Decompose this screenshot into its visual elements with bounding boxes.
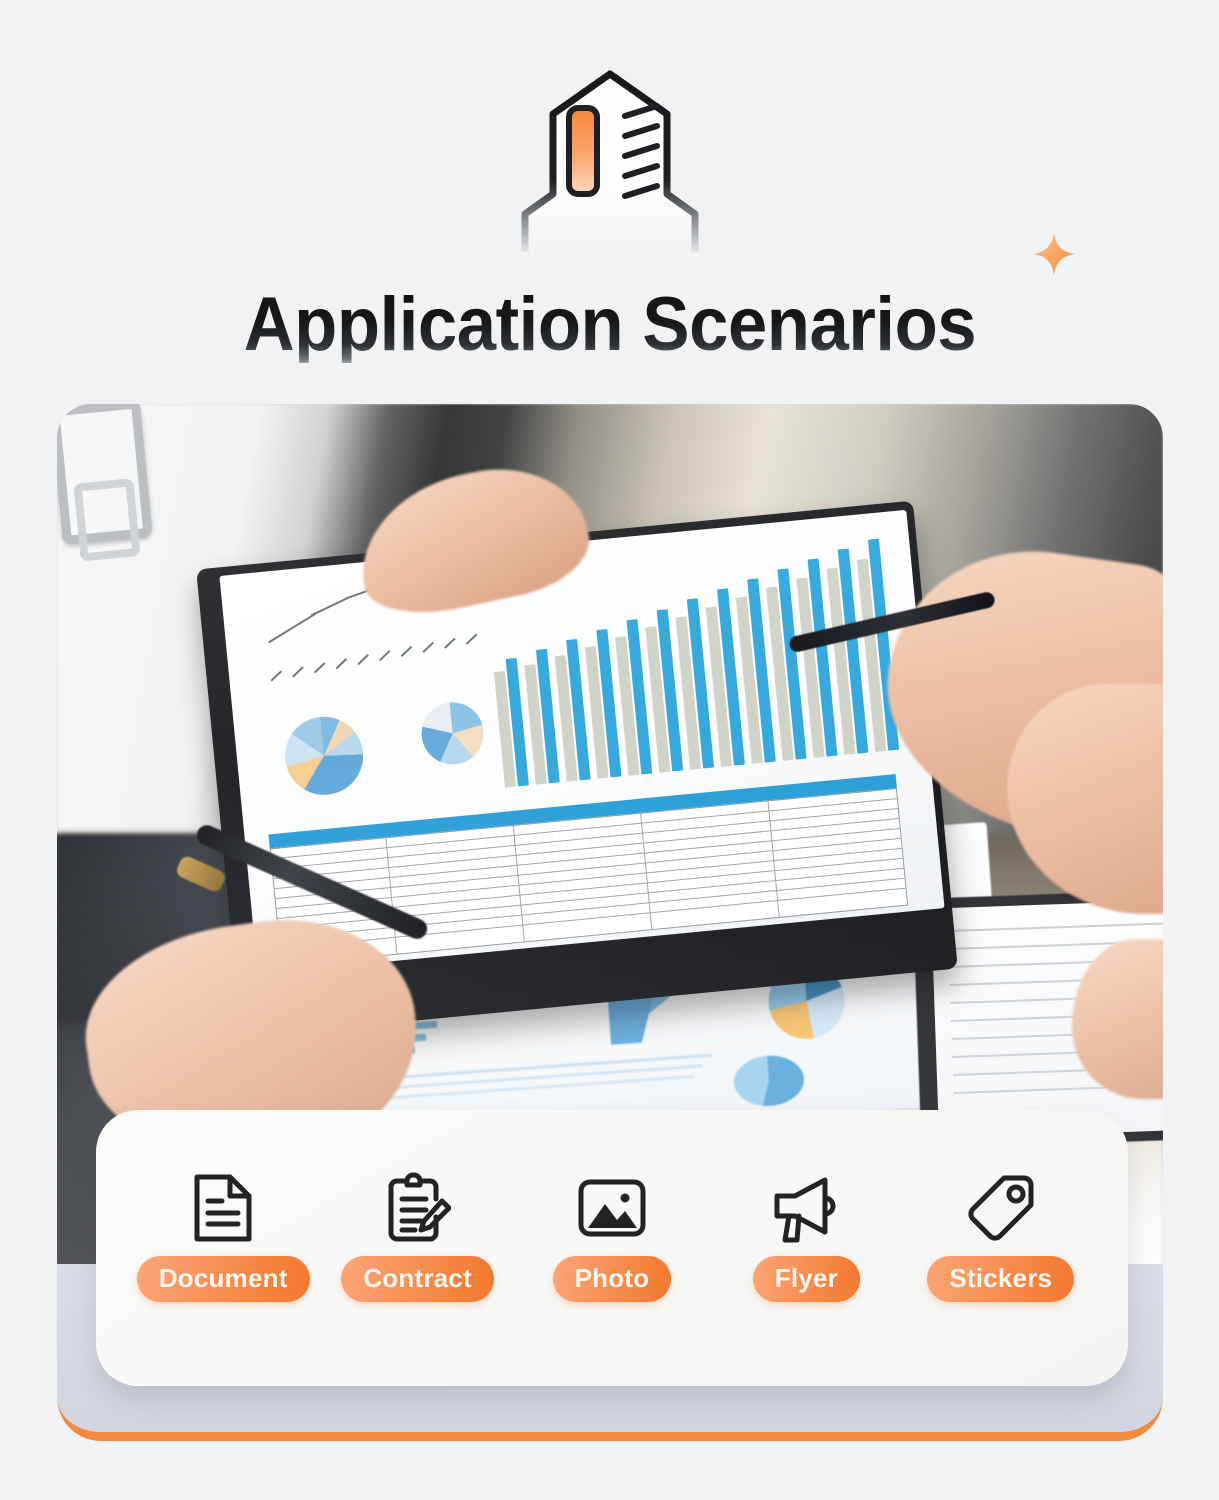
header-section: Application Scenarios bbox=[0, 0, 1219, 404]
feature-contract[interactable]: Contract bbox=[328, 1170, 508, 1302]
feature-stickers[interactable]: Stickers bbox=[911, 1170, 1091, 1302]
sparkle-star-icon bbox=[1031, 231, 1077, 277]
price-tag-icon bbox=[966, 1170, 1036, 1246]
feature-photo[interactable]: Photo bbox=[522, 1170, 702, 1302]
image-picture-icon bbox=[576, 1170, 648, 1246]
building-tower-icon bbox=[495, 62, 725, 252]
scenario-feature-row: Document Contract bbox=[96, 1170, 1128, 1340]
feature-label-document: Document bbox=[137, 1256, 310, 1302]
feature-label-stickers: Stickers bbox=[927, 1256, 1074, 1302]
feature-label-contract: Contract bbox=[341, 1256, 494, 1302]
feature-label-flyer: Flyer bbox=[753, 1256, 860, 1302]
scenario-feature-card: Document Contract bbox=[96, 1110, 1128, 1386]
feature-document[interactable]: Document bbox=[133, 1170, 313, 1302]
feature-flyer[interactable]: Flyer bbox=[716, 1170, 896, 1302]
page-title: Application Scenarios bbox=[243, 287, 976, 363]
feature-label-photo: Photo bbox=[553, 1256, 672, 1302]
megaphone-icon bbox=[769, 1170, 843, 1246]
document-page-icon bbox=[192, 1170, 254, 1246]
clipboard-pen-icon bbox=[385, 1170, 451, 1246]
